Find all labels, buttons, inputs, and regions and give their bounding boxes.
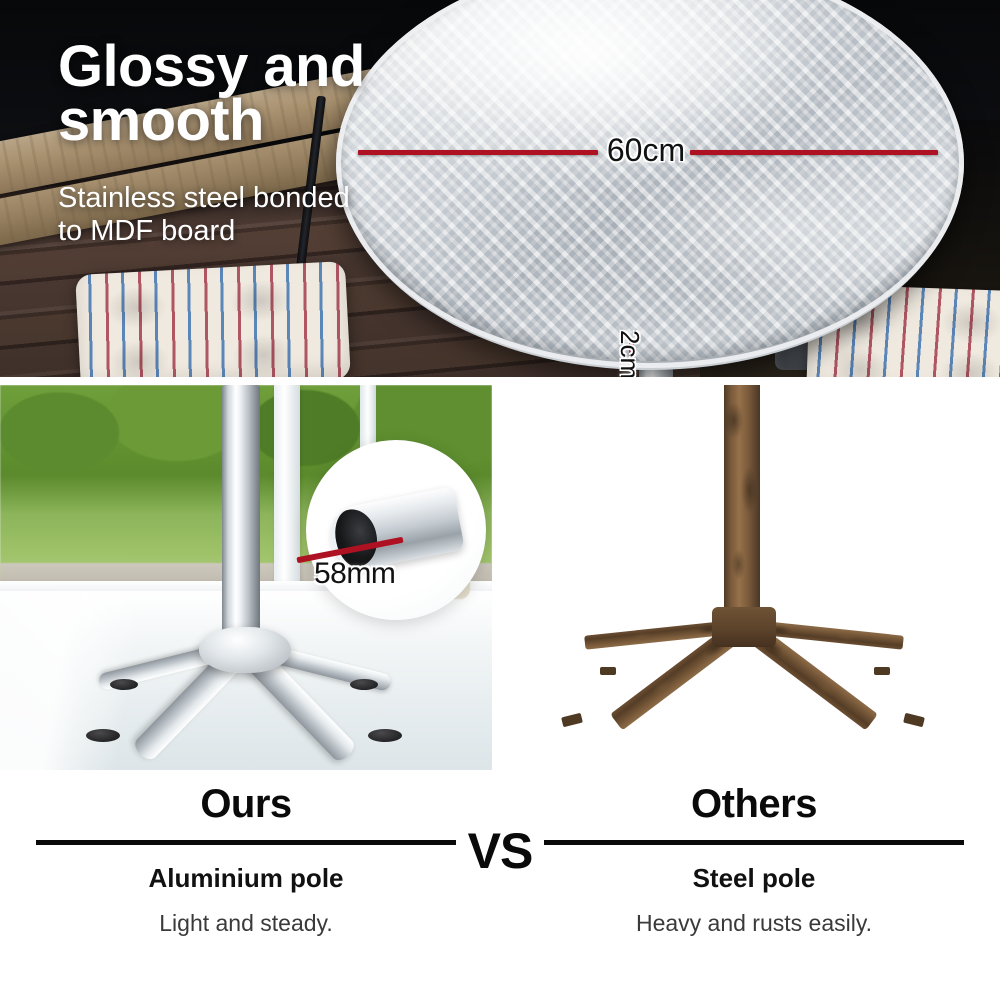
striped-cushion-left [75, 261, 351, 377]
rusty-base-hub [712, 607, 776, 647]
window-frame-mullion [274, 385, 300, 597]
hero-section: 60cm 2cm Glossy and smooth Stainless ste… [0, 0, 1000, 377]
base-foot-front-left [86, 729, 120, 742]
comparison-title-ours: Ours [36, 772, 456, 824]
aluminium-cross-base [60, 625, 430, 753]
comparison-section: Ours Aluminium pole Light and steady. VS… [0, 772, 1000, 1000]
tube-detail-inset [306, 440, 486, 620]
comparison-column-ours: Ours Aluminium pole Light and steady. [36, 772, 456, 937]
base-foot-back-right [350, 679, 378, 690]
hero-subtitle-line-2: to MDF board [58, 215, 488, 248]
comparison-column-others: Others Steel pole Heavy and rusts easily… [544, 772, 964, 937]
cushion-tufting-left [75, 261, 351, 377]
photo-ours-aluminium-base: 58mm [0, 385, 492, 770]
hero-title-line-1: Glossy and [58, 40, 478, 94]
comparison-rule-others [544, 840, 964, 845]
diameter-line-left [358, 150, 598, 155]
photo-comparison-row: 58mm [0, 385, 1000, 770]
aluminium-pole [222, 385, 260, 653]
versus-label: VS [458, 822, 542, 880]
hero-title: Glossy and smooth [58, 40, 478, 148]
comparison-subtitle-others: Steel pole [544, 863, 964, 894]
photo-others-steel-base [508, 385, 1000, 770]
comparison-rule-ours [36, 840, 456, 845]
tube-diameter-label: 58mm [314, 557, 395, 591]
product-feature-page: 60cm 2cm Glossy and smooth Stainless ste… [0, 0, 1000, 1000]
hero-subtitle: Stainless steel bonded to MDF board [58, 182, 488, 249]
diameter-line-right [690, 150, 938, 155]
rusty-foot-front-left [561, 713, 583, 728]
rusty-foot-back-right [874, 667, 890, 675]
rusty-steel-pole [724, 385, 760, 629]
comparison-title-others: Others [544, 772, 964, 824]
thickness-label: 2cm [614, 330, 645, 377]
rusty-cross-base [548, 607, 940, 737]
rusty-foot-back-left [600, 667, 616, 675]
base-foot-front-right [368, 729, 402, 742]
diameter-label: 60cm [598, 132, 694, 169]
comparison-note-ours: Light and steady. [36, 910, 456, 937]
comparison-subtitle-ours: Aluminium pole [36, 863, 456, 894]
comparison-note-others: Heavy and rusts easily. [544, 910, 964, 937]
hero-subtitle-line-1: Stainless steel bonded [58, 182, 488, 215]
hero-title-line-2: smooth [58, 94, 478, 148]
rusty-foot-front-right [903, 713, 925, 728]
base-foot-back-left [110, 679, 138, 690]
base-hub [199, 627, 291, 673]
